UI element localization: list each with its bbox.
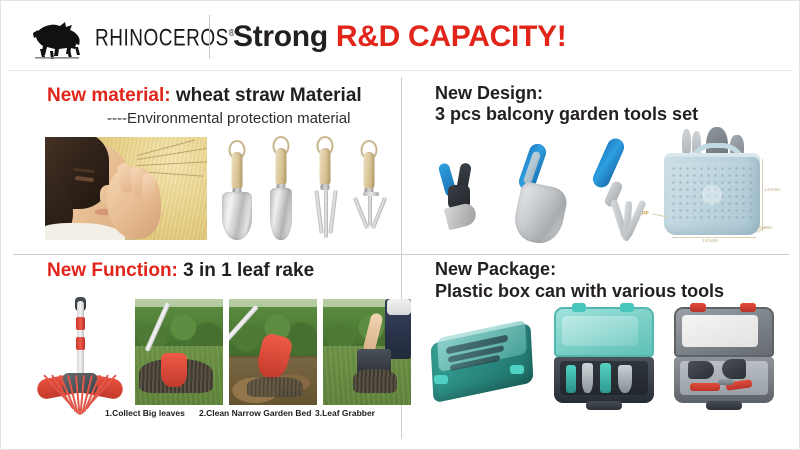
blue-handle-cultivator — [572, 137, 660, 249]
new-package-value: Plastic box can with various tools — [435, 281, 724, 301]
pruning-shears — [440, 163, 484, 233]
caption-collect-leaves: 1.Collect Big leaves — [105, 408, 185, 418]
rake-band — [76, 337, 85, 350]
dimension-depth-label: 105MM — [756, 225, 772, 230]
rake-narrow-bed-photo — [229, 299, 317, 405]
case-handle — [586, 401, 622, 410]
rake-collect-leaves-photo — [135, 299, 223, 405]
dimension-width-label: 240MM — [702, 238, 718, 243]
garden-fork — [305, 136, 345, 240]
case-tool-trowel — [688, 361, 714, 379]
garden-trowel — [217, 140, 257, 240]
case-latch — [434, 375, 448, 384]
slide-header: RHINOCEROS® Strong R&D CAPACITY! — [1, 1, 800, 71]
open-grey-tool-case-photo — [670, 307, 778, 407]
grabbed-leaves — [353, 369, 397, 393]
brand-logo: RHINOCEROS® — [29, 17, 204, 61]
basket-logo-emboss — [702, 185, 722, 205]
leaf-grabber-photo — [323, 299, 411, 405]
quadrant-new-material: New material: wheat straw Material ----E… — [1, 77, 401, 254]
product-feature-slide: RHINOCEROS® Strong R&D CAPACITY! New mat… — [0, 0, 800, 450]
brand-name: RHINOCEROS® — [95, 25, 235, 53]
tool-handle — [320, 148, 331, 186]
case-tool-shears — [618, 365, 632, 393]
red-leaf-rake-product-photo — [31, 297, 127, 419]
cultivator-grip — [590, 136, 627, 190]
caption-clean-garden-bed: 2.Clean Narrow Garden Bed — [199, 408, 311, 418]
quadrant-new-function: New Function: 3 in 1 leaf rake — [1, 255, 401, 445]
new-design-value: 3 pcs balcony garden tools set — [435, 104, 698, 124]
header-bottom-rule — [9, 70, 793, 71]
blue-handle-trowel — [502, 143, 572, 247]
new-material-heading: New material: wheat straw Material — [47, 85, 362, 106]
case-tool-pruner — [566, 365, 576, 393]
case-lid-inner-panel — [682, 315, 758, 347]
case-latch — [740, 303, 756, 312]
new-material-label: New material: — [47, 85, 171, 106]
fork-tine — [328, 190, 337, 234]
new-material-value: wheat straw Material — [171, 85, 362, 106]
transplanter-blade — [270, 188, 292, 240]
case-tool-transplanter — [722, 359, 746, 379]
new-design-label: New Design: — [435, 83, 543, 103]
perforated-storage-basket-photo: 140MM 240MM 105MM PP — [658, 129, 766, 241]
quadrant-new-package: New Package: Plastic box can with variou… — [402, 255, 800, 445]
caption-leaf-grabber: 3.Leaf Grabber — [315, 408, 375, 418]
case-latch — [510, 365, 524, 374]
new-function-label: New Function: — [47, 260, 178, 281]
woman-smelling-wheat-straw-photo — [45, 137, 207, 240]
trowel-blade — [222, 192, 252, 240]
tool-handle — [232, 152, 243, 190]
fork-tine — [324, 190, 328, 238]
dimension-line-height — [762, 159, 763, 231]
new-function-value: 3 in 1 leaf rake — [178, 260, 314, 281]
cultivator-crossbar — [363, 192, 379, 196]
cultivator-claw — [371, 196, 387, 229]
title-plain-part: Strong — [233, 20, 336, 53]
rake-band — [76, 317, 85, 330]
four-wheat-straw-handle-tools-photo — [211, 132, 391, 244]
case-tool-blade — [718, 379, 734, 385]
rake-head — [161, 353, 187, 387]
new-material-subheading: ----Environmental protection material — [107, 110, 350, 127]
quadrant-new-design: New Design: 3 pcs balcony garden tools s… — [402, 77, 800, 254]
new-function-heading: New Function: 3 in 1 leaf rake — [47, 260, 314, 281]
new-package-label: New Package: — [435, 259, 556, 279]
tool-handle — [364, 152, 375, 190]
case-latch — [690, 303, 706, 312]
page-title: Strong R&D CAPACITY! — [233, 20, 566, 54]
dimension-height-label: 140MM — [764, 187, 780, 192]
cultivator-claw — [368, 194, 372, 226]
rhinoceros-silhouette-icon — [29, 18, 91, 60]
case-tool-red-handle — [690, 383, 720, 391]
open-teal-tool-case-photo — [550, 307, 658, 407]
garden-transplanter — [261, 136, 301, 240]
case-latch — [620, 303, 634, 312]
trowel-scoop — [510, 181, 569, 248]
case-lid-inner-panel — [562, 316, 638, 346]
raked-debris — [247, 377, 303, 397]
garden-cultivator — [349, 140, 389, 240]
case-latch — [572, 303, 586, 312]
material-label: PP — [642, 211, 649, 217]
tool-handle — [276, 148, 287, 186]
title-accent-part: R&D CAPACITY! — [336, 20, 567, 53]
case-tool-cultivator — [600, 363, 611, 393]
woman-finger — [141, 173, 155, 203]
case-handle — [706, 401, 742, 410]
header-divider — [209, 15, 210, 59]
closed-teal-tool-case-photo — [426, 307, 538, 405]
cultivator-claw — [353, 196, 369, 229]
fork-tine — [314, 190, 323, 234]
case-tool-trowel — [582, 363, 593, 393]
three-piece-blue-tool-set-photo: 140MM 240MM 105MM PP — [422, 125, 794, 253]
